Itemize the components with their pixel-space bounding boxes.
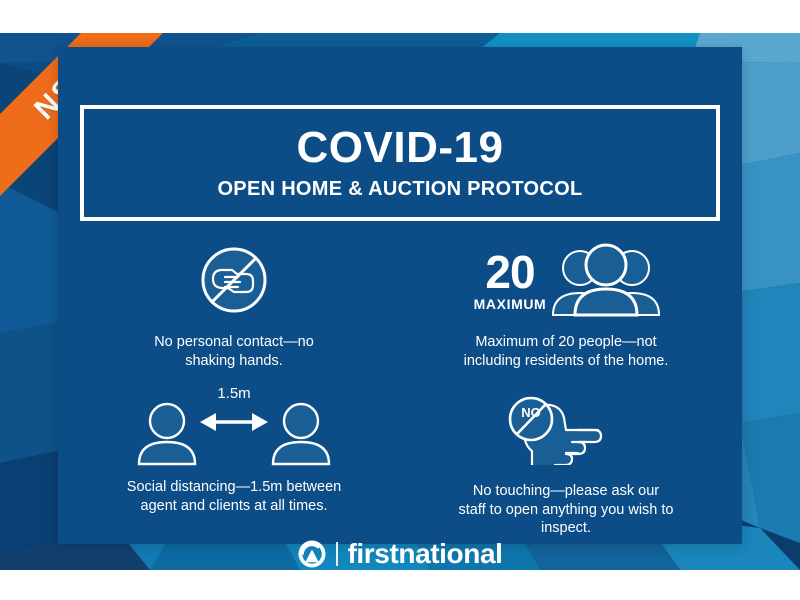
- content-panel: COVID-19 OPEN HOME & AUCTION PROTOCOL: [58, 47, 742, 544]
- brand-lockup: firstnational: [0, 538, 800, 570]
- no-touching-caption: No touching—please ask our staff to open…: [459, 482, 674, 538]
- max-people-caption: Maximum of 20 people—not including resid…: [461, 333, 671, 370]
- brand-divider: [336, 542, 338, 566]
- first-national-logo-icon: [297, 539, 327, 569]
- protocol-item-no-contact: No personal contact—no shaking hands.: [68, 233, 400, 370]
- no-touching-hand-icon: NO: [496, 393, 636, 465]
- social-distancing-artwork: 1.5m: [134, 382, 334, 468]
- no-handshake-icon: [195, 241, 273, 319]
- max-number-label: MAXIMUM: [474, 297, 547, 311]
- max-number: 20: [485, 249, 534, 295]
- page-title: COVID-19: [297, 125, 504, 171]
- two-people-distance-icon: [134, 400, 334, 466]
- no-contact-caption: No personal contact—no shaking hands.: [129, 333, 339, 370]
- no-contact-artwork: [195, 237, 273, 323]
- header-frame: COVID-19 OPEN HOME & AUCTION PROTOCOL: [80, 105, 720, 221]
- poster-stage: NSW COVID-19 OPEN HOME & AUCTION PROTOCO…: [0, 0, 800, 600]
- protocol-item-social-distancing: 1.5m: [68, 370, 400, 538]
- no-touching-artwork: NO: [496, 386, 636, 472]
- brand-name: firstnational: [347, 538, 502, 570]
- no-badge-text: NO: [521, 405, 541, 420]
- social-distancing-caption: Social distancing—1.5m between agent and…: [127, 478, 342, 515]
- protocol-item-no-touching: NO No touching—please ask our staff to o…: [400, 370, 732, 538]
- poster-artwork: NSW COVID-19 OPEN HOME & AUCTION PROTOCO…: [0, 33, 800, 570]
- protocol-item-max-people: 20 MAXIMUM: [400, 233, 732, 370]
- page-subtitle: OPEN HOME & AUCTION PROTOCOL: [217, 178, 582, 201]
- protocol-items-grid: No personal contact—no shaking hands. 20…: [68, 233, 732, 533]
- group-of-people-icon: [550, 243, 662, 317]
- max-people-artwork: 20 MAXIMUM: [474, 237, 663, 323]
